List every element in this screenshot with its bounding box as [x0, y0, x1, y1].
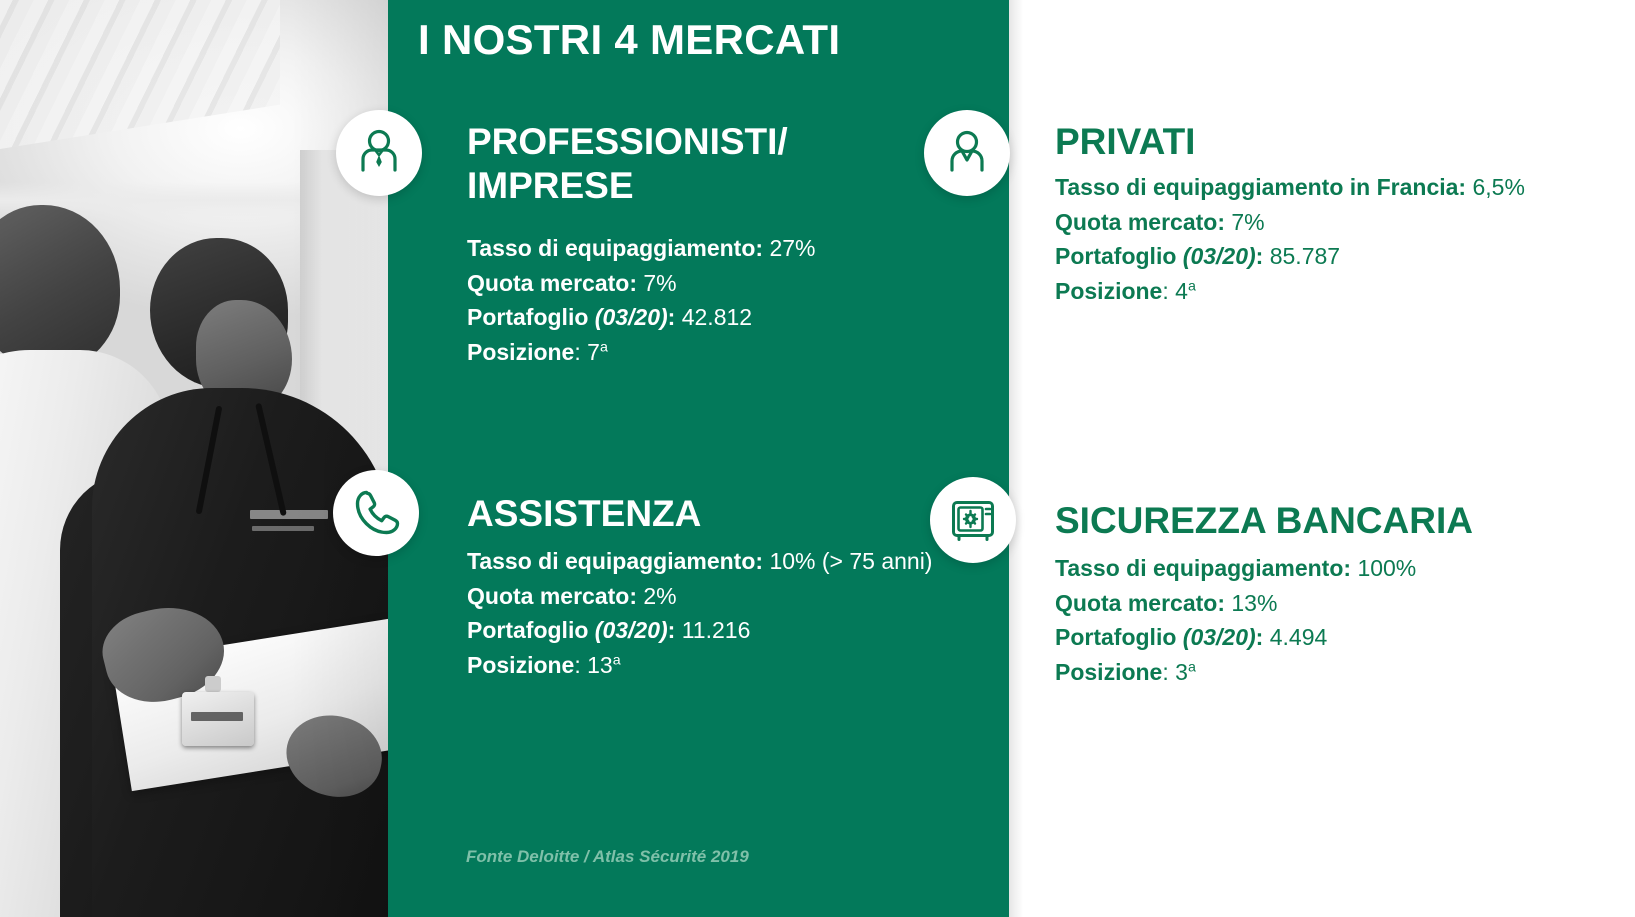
- market-stats: Tasso di equipaggiamento: 10% (> 75 anni…: [467, 544, 932, 683]
- stat-position-ordinal: a: [1188, 660, 1196, 676]
- stat-position: Posizione: 3a: [1055, 655, 1416, 690]
- stat-rate: Tasso di equipaggiamento: 27%: [467, 231, 815, 266]
- stat-position: Posizione: 4a: [1055, 274, 1525, 309]
- stat-portfolio-label: Portafoglio: [1055, 243, 1176, 269]
- market-stats: Tasso di equipaggiamento: 27% Quota merc…: [467, 231, 815, 370]
- market-stats: Tasso di equipaggiamento in Francia: 6,5…: [1055, 170, 1525, 309]
- stat-position-value: 7: [587, 339, 600, 365]
- stat-share-label: Quota mercato:: [467, 270, 637, 296]
- stat-rate-label: Tasso di equipaggiamento:: [467, 235, 763, 261]
- source-note: Fonte Deloitte / Atlas Sécurité 2019: [466, 847, 749, 867]
- stat-portfolio-value: 4.494: [1270, 624, 1328, 650]
- market-heading-line1: ASSISTENZA: [467, 493, 701, 534]
- stat-portfolio-sep: :: [1256, 243, 1264, 269]
- person-user-icon: [924, 110, 1010, 196]
- stat-rate-value: 100%: [1357, 555, 1416, 581]
- stat-portfolio-value: 11.216: [682, 617, 751, 643]
- stat-position-ordinal: a: [600, 340, 608, 356]
- stat-position-sep: :: [574, 339, 580, 365]
- bank-safe-vault-icon: [930, 477, 1016, 563]
- stat-portfolio-sep: :: [668, 304, 676, 330]
- phone-handset-icon: [333, 470, 419, 556]
- market-heading-line1: PROFESSIONISTI/: [467, 121, 788, 162]
- stat-position: Posizione: 7a: [467, 335, 815, 370]
- market-heading: PROFESSIONISTI/ IMPRESE: [467, 120, 788, 207]
- stat-position-ordinal: a: [1188, 279, 1196, 295]
- stat-position: Posizione: 13a: [467, 648, 932, 683]
- stat-portfolio-date: (03/20): [1183, 243, 1256, 269]
- market-heading: SICUREZZA BANCARIA: [1055, 499, 1473, 543]
- stat-portfolio-date: (03/20): [595, 617, 668, 643]
- market-heading-line1: SICUREZZA BANCARIA: [1055, 500, 1473, 541]
- market-heading-line1: PRIVATI: [1055, 121, 1195, 162]
- market-heading: ASSISTENZA: [467, 492, 701, 536]
- stat-share-value: 13%: [1231, 590, 1277, 616]
- stat-portfolio-value: 85.787: [1270, 243, 1340, 269]
- stat-rate-value: 27%: [769, 235, 815, 261]
- stat-share-label: Quota mercato:: [1055, 209, 1225, 235]
- stat-portfolio-date: (03/20): [595, 304, 668, 330]
- stat-position-value: 3: [1175, 659, 1188, 685]
- stat-portfolio-label: Portafoglio: [467, 617, 588, 643]
- stat-portfolio: Portafoglio (03/20): 42.812: [467, 300, 815, 335]
- stat-rate-label: Tasso di equipaggiamento:: [1055, 555, 1351, 581]
- stat-share: Quota mercato: 7%: [1055, 205, 1525, 240]
- stat-position-sep: :: [1162, 278, 1168, 304]
- stat-share: Quota mercato: 13%: [1055, 586, 1416, 621]
- market-heading-line2: IMPRESE: [467, 165, 634, 206]
- stat-portfolio-sep: :: [668, 617, 676, 643]
- stat-position-sep: :: [574, 652, 580, 678]
- stat-portfolio-label: Portafoglio: [467, 304, 588, 330]
- stat-portfolio-sep: :: [1256, 624, 1264, 650]
- businessman-tie-icon: [336, 110, 422, 196]
- market-heading: PRIVATI: [1055, 120, 1195, 164]
- stat-rate: Tasso di equipaggiamento in Francia: 6,5…: [1055, 170, 1525, 205]
- stat-position-label: Posizione: [1055, 659, 1162, 685]
- stat-rate-label: Tasso di equipaggiamento:: [467, 548, 763, 574]
- stat-portfolio-date: (03/20): [1183, 624, 1256, 650]
- background-photo: [0, 0, 388, 917]
- stat-share-label: Quota mercato:: [1055, 590, 1225, 616]
- stat-position-ordinal: a: [613, 653, 621, 669]
- photo-vignette: [0, 0, 388, 917]
- stat-share-label: Quota mercato:: [467, 583, 637, 609]
- panel-edge-shadow: [1009, 0, 1023, 917]
- stat-rate: Tasso di equipaggiamento: 10% (> 75 anni…: [467, 544, 932, 579]
- stat-rate-value: 10% (> 75 anni): [769, 548, 932, 574]
- stat-share: Quota mercato: 2%: [467, 579, 932, 614]
- stat-portfolio: Portafoglio (03/20): 85.787: [1055, 239, 1525, 274]
- stat-rate-value: 6,5%: [1472, 174, 1524, 200]
- stat-position-sep: :: [1162, 659, 1168, 685]
- stat-portfolio-label: Portafoglio: [1055, 624, 1176, 650]
- stat-position-label: Posizione: [467, 339, 574, 365]
- stat-position-value: 13: [587, 652, 613, 678]
- stat-position-value: 4: [1175, 278, 1188, 304]
- stat-portfolio-value: 42.812: [682, 304, 752, 330]
- stat-position-label: Posizione: [467, 652, 574, 678]
- stat-position-label: Posizione: [1055, 278, 1162, 304]
- stat-share-value: 2%: [643, 583, 676, 609]
- market-stats: Tasso di equipaggiamento: 100% Quota mer…: [1055, 551, 1416, 690]
- stat-share: Quota mercato: 7%: [467, 266, 815, 301]
- stat-rate-label: Tasso di equipaggiamento in Francia:: [1055, 174, 1466, 200]
- stat-portfolio: Portafoglio (03/20): 11.216: [467, 613, 932, 648]
- stat-portfolio: Portafoglio (03/20): 4.494: [1055, 620, 1416, 655]
- page-title: I NOSTRI 4 MERCATI: [418, 16, 840, 64]
- stat-share-value: 7%: [1231, 209, 1264, 235]
- slide-canvas: I NOSTRI 4 MERCATI PROFESSIONISTI/ IMPRE…: [0, 0, 1635, 917]
- stat-share-value: 7%: [643, 270, 676, 296]
- stat-rate: Tasso di equipaggiamento: 100%: [1055, 551, 1416, 586]
